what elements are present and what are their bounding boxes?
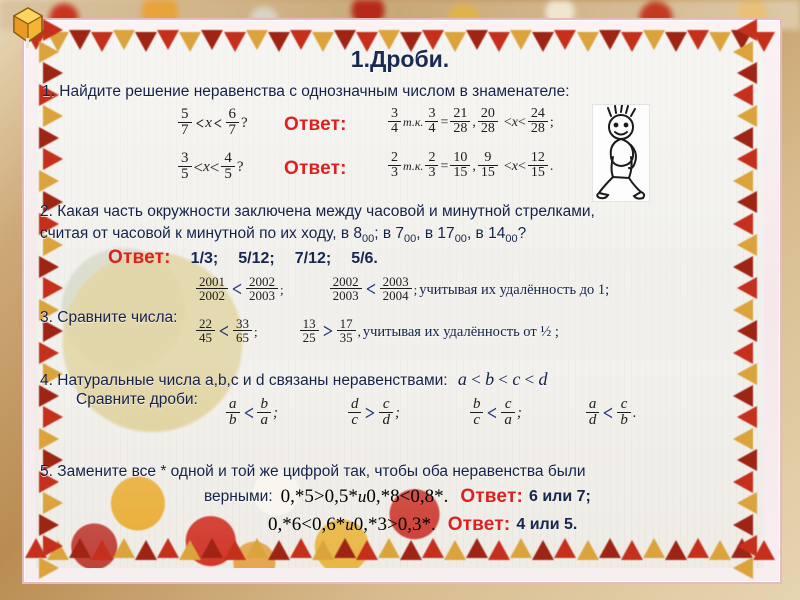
task-1-number: 1. <box>42 83 55 100</box>
expr-5-1d: 0,8* <box>410 486 443 508</box>
fraction-2003-2004: 2003 2004 <box>380 275 412 303</box>
sign-5-2b: > <box>387 514 398 536</box>
tail-3d: , <box>358 324 361 340</box>
tail-5a: . <box>444 486 449 508</box>
fraction-d-c: d c <box>348 397 362 429</box>
work-fraction-2-3: 2 3 <box>425 151 438 181</box>
blue-sign-lt-5: < <box>487 401 497 426</box>
sub-00-4: 00 <box>505 233 517 245</box>
slide-content: 1.Дроби. 1. Найдите решение неравенства … <box>36 30 764 568</box>
task-4-number: 4. <box>40 372 53 389</box>
fraction-22-45: 22 45 <box>196 317 215 345</box>
tail-5b: . <box>431 514 436 536</box>
page-title: 1.Дроби. <box>36 46 764 73</box>
tail-1: ; <box>550 115 554 131</box>
work-fraction-10-15: 10 15 <box>450 151 470 181</box>
task-5-answer-1: 6 или 7; <box>529 488 591 506</box>
fraction-33-65: 33 65 <box>233 317 252 345</box>
fraction-c-d: c d <box>379 397 393 429</box>
task-2-text-2a: считая от часовой к минутной по их ходу,… <box>40 225 362 242</box>
expr-5-1c: 0,*8 <box>366 486 399 508</box>
fraction-b-a: b a <box>257 397 271 429</box>
gem-icon <box>6 4 50 48</box>
comma-1: , <box>472 115 476 131</box>
question-mark-2: ? <box>237 159 244 176</box>
fraction-b-c: b c <box>470 397 484 429</box>
fraction-5-7: 5 7 <box>178 107 192 139</box>
blue-sign-lt-4: < <box>243 401 253 426</box>
task-2-text-1: Какая часть окружности заключена между ч… <box>57 203 595 220</box>
rel-lt-8: < <box>518 159 526 175</box>
blue-sign-lt-1: < <box>232 277 242 302</box>
expr-5-1a: 0,*5 <box>281 486 314 508</box>
rel-lt-1: < <box>195 114 203 134</box>
question-mark-1: ? <box>241 115 248 132</box>
task-1-text: Найдите решение неравенства с однозначны… <box>59 83 569 100</box>
equals-1: = <box>440 115 448 131</box>
sub-00-1: 00 <box>362 233 374 245</box>
fraction-c-a: c a <box>501 397 515 429</box>
conj-5-1: и <box>358 487 367 507</box>
task-1-row-1-work: 3 4 т.к. 3 4 = 21 28 , 20 28 < x < 24 28… <box>386 108 554 138</box>
fraction-2001-2002: 2001 2002 <box>196 275 228 303</box>
expr-5-2a: 0,*6 <box>268 514 301 536</box>
sign-5-2a: < <box>301 514 312 536</box>
answer-label-1a: Ответ: <box>284 114 347 136</box>
because-1: т.к. <box>403 115 423 130</box>
blue-sign-gt-1: > <box>322 319 332 344</box>
rel-lt-3: < <box>504 115 512 131</box>
task-3-note-2: учитывая их удалённость от ½ ; <box>363 323 559 341</box>
work-fraction-20-28: 20 28 <box>478 107 498 137</box>
fraction-6-7: 6 7 <box>226 107 240 139</box>
fraction-3-5: 3 5 <box>178 151 192 183</box>
work-fraction-9-15: 9 15 <box>478 151 498 181</box>
task-5-text-1: Замените все * одной и той же цифрой так… <box>57 463 585 480</box>
tail-3a: ; <box>280 282 284 298</box>
task-4-prompt-line-2: Сравните дроби: <box>76 390 198 409</box>
answer-label-5a: Ответ: <box>460 486 523 508</box>
work-fraction-12-15: 12 15 <box>528 151 548 181</box>
fraction-2002-2003: 2002 2003 <box>246 275 278 303</box>
task-2-number: 2. <box>40 203 53 220</box>
fraction-17-35: 17 35 <box>337 317 356 345</box>
blue-sign-lt-6: < <box>603 401 613 426</box>
sub-00-3: 00 <box>455 233 467 245</box>
answer-fraction-2-3: 2 3 <box>388 151 401 181</box>
blue-sign-gt-2: > <box>365 401 375 426</box>
answer-fraction-3-4: 3 4 <box>388 107 401 137</box>
because-2: т.к. <box>403 159 423 174</box>
slide-root: 1.Дроби. 1. Найдите решение неравенства … <box>0 0 800 600</box>
task-2-answer-row: Ответ: 1/3; 5/12; 7/12; 5/6. <box>108 247 378 269</box>
fraction-13-25: 13 25 <box>300 317 319 345</box>
work-fraction-24-28: 24 28 <box>528 107 548 137</box>
task-5-label: верными: <box>204 487 273 506</box>
var-x-3: x <box>203 159 210 176</box>
rel-lt-7: < <box>504 159 512 175</box>
task-1-row-2-left: 3 5 < x < 4 5 ? <box>176 152 244 184</box>
task-5-answer-2: 4 или 5. <box>516 516 577 534</box>
fraction-a-b: a b <box>226 397 240 429</box>
rel-lt-2: < <box>214 114 222 134</box>
fraction-c-b: c b <box>617 397 631 429</box>
blue-sign-lt-2: < <box>365 277 375 302</box>
answer-label-5b: Ответ: <box>448 514 511 536</box>
rel-lt-5: < <box>194 158 204 178</box>
task-2-text-2b: ; в 7 <box>374 225 404 242</box>
task-5-line-2: 0,*6 < 0,6* и 0,*3 > 0,3* . Ответ: 4 или… <box>268 514 577 536</box>
tail-4b: ; <box>395 405 400 422</box>
task-2-text-2d: , в 14 <box>467 225 505 242</box>
tail-4d: . <box>633 405 637 422</box>
chain-b: b <box>485 369 494 389</box>
answer-label-1b: Ответ: <box>284 158 347 180</box>
fraction-4-5: 4 5 <box>221 151 235 183</box>
tail-3c: ; <box>254 324 258 340</box>
task-3-number: 3. <box>40 309 53 326</box>
task-2-answer-4: 5/6. <box>351 250 378 268</box>
task-4-text-1: Натуральные числа a,b,c и d связаны нера… <box>57 372 447 389</box>
task-2-answer-1: 1/3; <box>191 250 219 268</box>
task-4-pairs: a b < b a ; d c > c d ; b c < c a <box>224 398 637 430</box>
rel-lt-6: < <box>210 158 220 178</box>
task-2-text-2e: ? <box>518 225 527 242</box>
tail-2: . <box>550 159 554 175</box>
task-5-prompt-line-1: 5. Замените все * одной и той же цифрой … <box>40 462 764 481</box>
chain-lt-1: < <box>471 370 481 389</box>
sub-00-2: 00 <box>404 233 416 245</box>
blue-sign-lt-3: < <box>219 319 229 344</box>
chain-d: d <box>539 369 548 389</box>
work-fraction-21-28: 21 28 <box>450 107 470 137</box>
rel-lt-4: < <box>518 115 526 131</box>
walking-stickman-icon <box>592 104 650 202</box>
task-2-answer-2: 5/12; <box>238 250 274 268</box>
task-2-prompt-line-2: считая от часовой к минутной по их ходу,… <box>40 224 760 247</box>
task-1-row-1-left: 5 7 < x < 6 7 ? <box>176 108 248 140</box>
task-1-row-2-work: 2 3 т.к. 2 3 = 10 15 , 9 15 < x < 12 15 … <box>386 152 553 182</box>
comma-2: , <box>472 159 476 175</box>
chain-lt-2: < <box>498 370 508 389</box>
fraction-a-d: a d <box>586 397 600 429</box>
task-3-group-2: 22 45 < 33 65 ; 13 25 > 17 35 , учитывая… <box>194 318 559 346</box>
sign-5-1b: < <box>400 486 411 508</box>
task-2-prompt-line-1: 2. Какая часть окружности заключена межд… <box>40 202 760 221</box>
expr-5-1b: 0,5* <box>325 486 358 508</box>
task-5-line-1: верными: 0,*5 > 0,5* и 0,*8 < 0,8* . Отв… <box>204 486 591 508</box>
task-3-group-1: 2001 2002 < 2002 2003 ; 2002 2003 < 2003… <box>194 276 609 304</box>
task-5-number: 5. <box>40 463 53 480</box>
sign-5-1a: > <box>314 486 325 508</box>
fraction-2002-2003-b: 2002 2003 <box>330 275 362 303</box>
task-1-prompt: 1. Найдите решение неравенства с однозна… <box>42 82 758 101</box>
expr-5-2d: 0,3* <box>398 514 431 536</box>
chain-lt-3: < <box>525 370 535 389</box>
tail-3b: ; <box>414 282 418 298</box>
task-2-text-2c: , в 17 <box>416 225 454 242</box>
task-3-prompt: 3. Сравните числа: <box>40 308 177 327</box>
chain-a: a <box>458 369 467 389</box>
task-3-text: Сравните числа: <box>57 309 177 326</box>
expr-5-2b: 0,6* <box>312 514 345 536</box>
task-4-prompt-line-1: 4. Натуральные числа a,b,c и d связаны н… <box>40 368 548 391</box>
tail-4c: ; <box>517 405 522 422</box>
task-3-note-1: учитывая их удалённость до 1; <box>419 281 609 299</box>
work-fraction-3-4: 3 4 <box>425 107 438 137</box>
conj-5-2: и <box>345 515 354 535</box>
answer-label-2: Ответ: <box>108 247 171 269</box>
var-x-1: x <box>205 115 212 132</box>
expr-5-2c: 0,*3 <box>354 514 387 536</box>
chain-c: c <box>512 369 520 389</box>
task-2-answer-3: 7/12; <box>295 250 331 268</box>
equals-2: = <box>440 159 448 175</box>
tail-4a: ; <box>273 405 278 422</box>
